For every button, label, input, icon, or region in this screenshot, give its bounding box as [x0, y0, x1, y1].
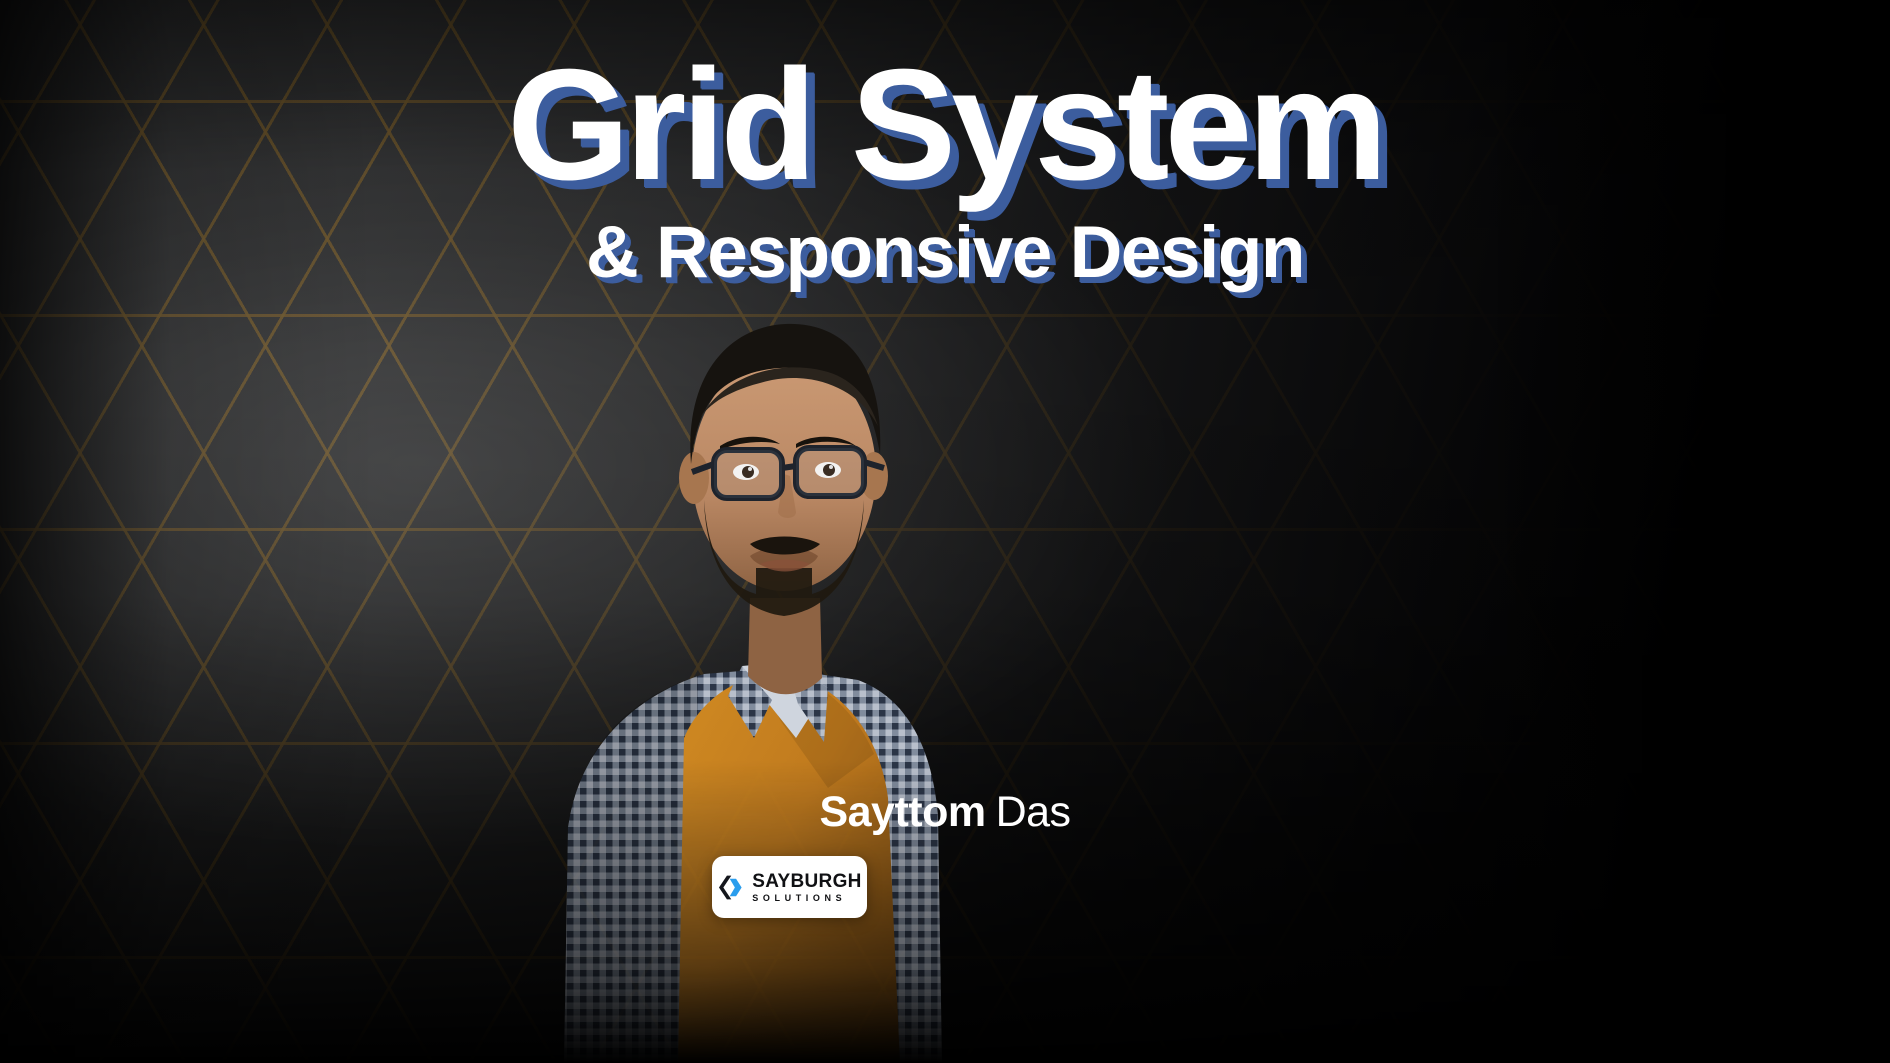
logo-tagline: SOLUTIONS: [752, 894, 861, 903]
logo-wordmark: SAYBURGH SOLUTIONS: [752, 872, 861, 903]
speaker-name: SayttomDas: [0, 788, 1890, 837]
sayburgh-logo-badge[interactable]: SAYBURGH SOLUTIONS: [712, 856, 867, 918]
logo-company-name: SAYBURGH: [752, 872, 861, 891]
speaker-last-name: Das: [996, 788, 1071, 836]
speaker-first-name: Sayttom: [819, 788, 985, 836]
speaker-portrait: [528, 268, 948, 1063]
sayburgh-chevron-mark-icon: [717, 874, 744, 901]
slide-canvas: Grid System & Responsive Design SayttomD…: [0, 0, 1890, 1063]
